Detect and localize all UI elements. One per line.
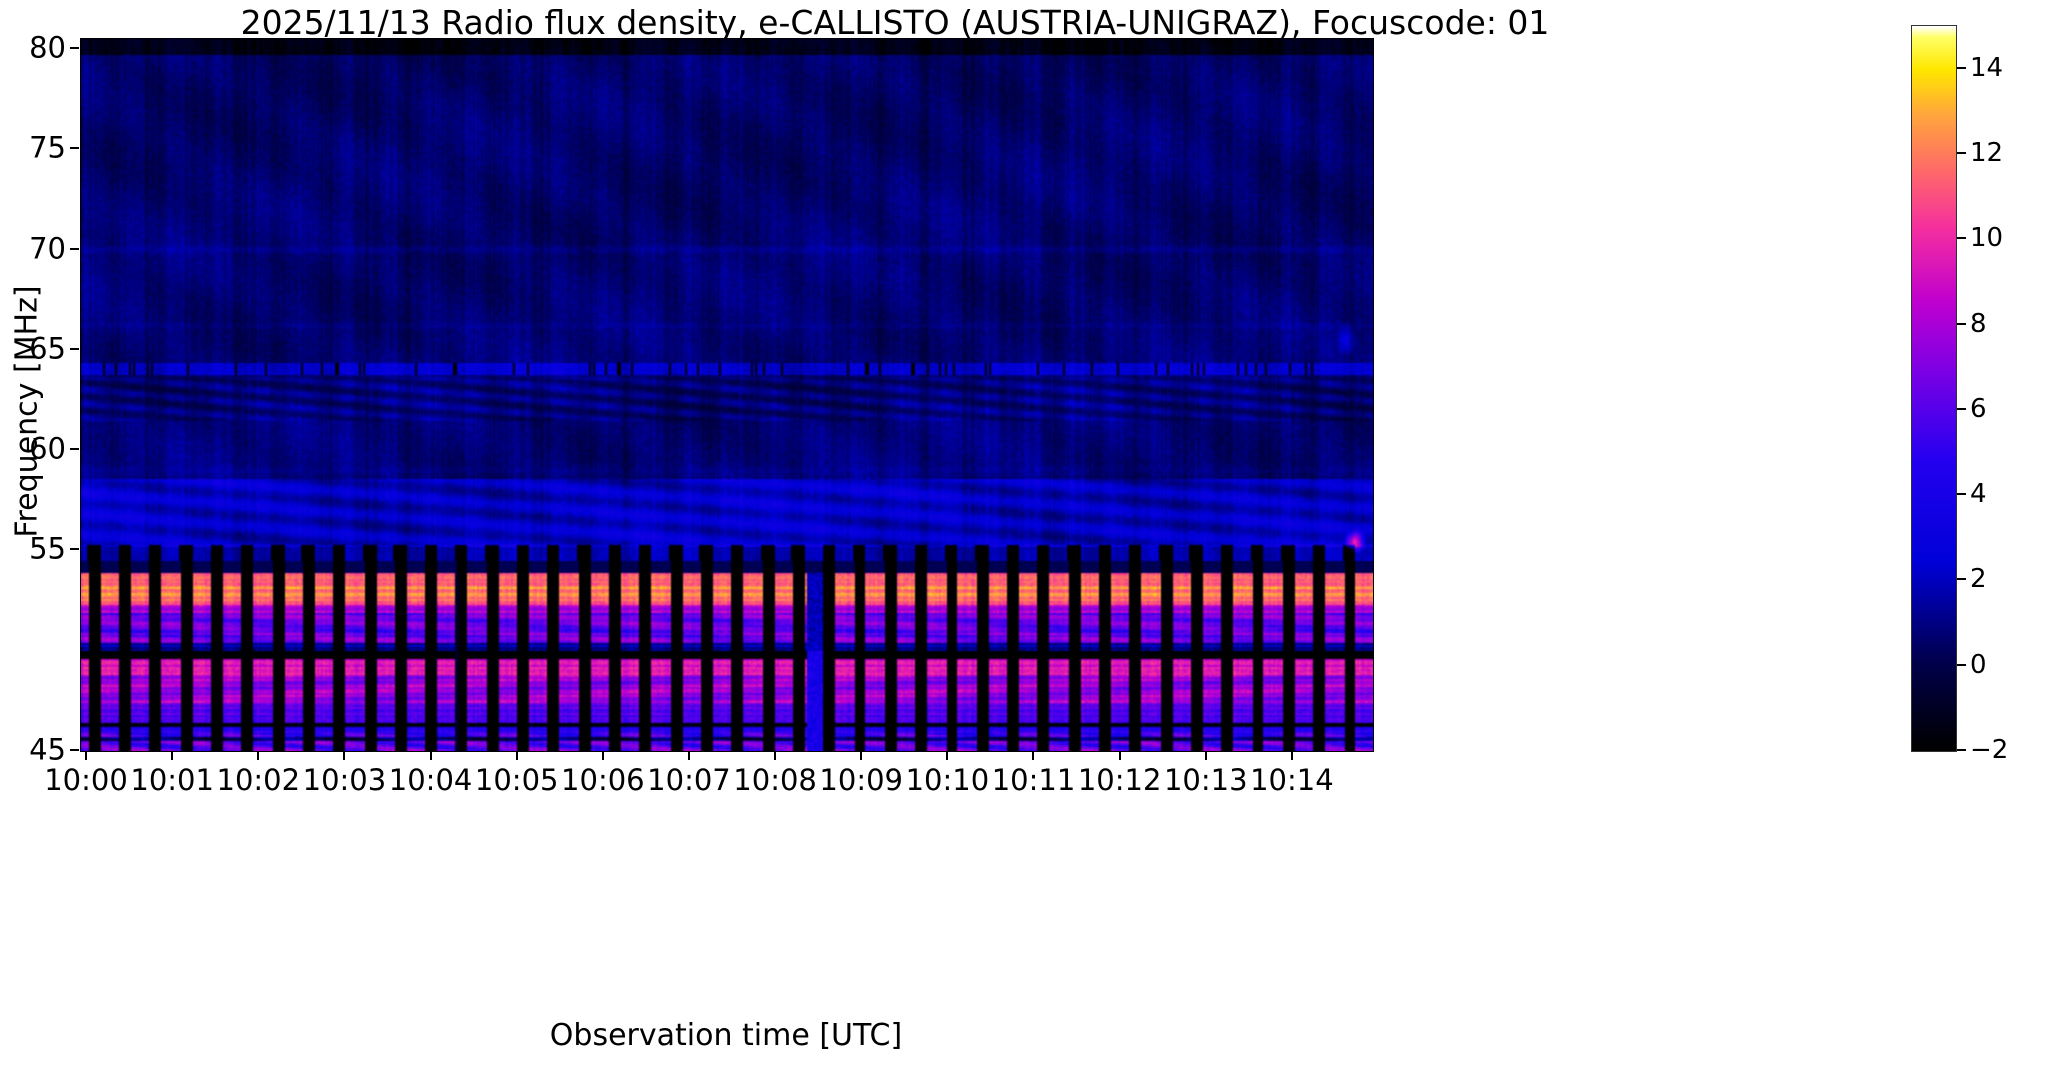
x-tick-label: 10:07 bbox=[647, 763, 731, 797]
colorbar-tick-label: 2 bbox=[1970, 564, 1987, 594]
x-tick-label: 10:12 bbox=[1078, 763, 1162, 797]
colorbar-tick-label: 10 bbox=[1970, 223, 2003, 253]
y-tick-mark bbox=[70, 248, 79, 250]
y-tick-mark bbox=[70, 147, 79, 149]
colorbar-tick-mark bbox=[1957, 237, 1966, 239]
colorbar-tick-label: 14 bbox=[1970, 53, 2003, 83]
colorbar bbox=[1911, 25, 1957, 752]
x-axis-title: Observation time [UTC] bbox=[80, 1018, 1372, 1053]
x-tick-label: 10:03 bbox=[303, 763, 387, 797]
y-tick-mark bbox=[70, 47, 79, 49]
x-tick-label: 10:08 bbox=[733, 763, 817, 797]
x-tick-mark bbox=[85, 751, 87, 760]
colorbar-tick-mark bbox=[1957, 323, 1966, 325]
spectrogram-image bbox=[81, 39, 1373, 751]
y-tick-mark bbox=[70, 448, 79, 450]
x-tick-mark bbox=[343, 751, 345, 760]
x-tick-label: 10:13 bbox=[1164, 763, 1248, 797]
colorbar-tick-mark bbox=[1957, 749, 1966, 751]
spectrogram-figure: 2025/11/13 Radio flux density, e-CALLIST… bbox=[0, 0, 2047, 1067]
colorbar-tick-mark bbox=[1957, 493, 1966, 495]
x-tick-label: 10:00 bbox=[44, 763, 128, 797]
x-tick-mark bbox=[1291, 751, 1293, 760]
x-tick-label: 10:10 bbox=[906, 763, 990, 797]
x-tick-label: 10:01 bbox=[130, 763, 214, 797]
x-tick-label: 10:02 bbox=[216, 763, 300, 797]
colorbar-tick-mark bbox=[1957, 578, 1966, 580]
colorbar-tick-label: 8 bbox=[1970, 309, 1987, 339]
x-tick-mark bbox=[1032, 751, 1034, 760]
colorbar-tick-mark bbox=[1957, 152, 1966, 154]
page-title: 2025/11/13 Radio flux density, e-CALLIST… bbox=[0, 3, 1790, 42]
colorbar-tick-label: 0 bbox=[1970, 650, 1987, 680]
y-tick-mark bbox=[70, 348, 79, 350]
colorbar-tick-label: 12 bbox=[1970, 138, 2003, 168]
colorbar-tick-mark bbox=[1957, 67, 1966, 69]
x-tick-mark bbox=[171, 751, 173, 760]
x-tick-mark bbox=[257, 751, 259, 760]
x-tick-mark bbox=[602, 751, 604, 760]
x-tick-mark bbox=[774, 751, 776, 760]
colorbar-tick-mark bbox=[1957, 664, 1966, 666]
x-tick-mark bbox=[1119, 751, 1121, 760]
colorbar-tick-mark bbox=[1957, 408, 1966, 410]
colorbar-tick-label: 6 bbox=[1970, 394, 1987, 424]
spectrogram-plot-area bbox=[80, 38, 1374, 752]
x-tick-mark bbox=[1205, 751, 1207, 760]
x-tick-mark bbox=[516, 751, 518, 760]
y-tick-mark bbox=[70, 548, 79, 550]
x-tick-label: 10:05 bbox=[475, 763, 559, 797]
colorbar-tick-label: 4 bbox=[1970, 479, 1987, 509]
y-axis-title: Frequency [MHz] bbox=[10, 56, 45, 768]
x-tick-label: 10:06 bbox=[561, 763, 645, 797]
x-tick-mark bbox=[946, 751, 948, 760]
x-tick-mark bbox=[688, 751, 690, 760]
x-tick-mark bbox=[860, 751, 862, 760]
x-tick-label: 10:09 bbox=[819, 763, 903, 797]
y-tick-mark bbox=[70, 749, 79, 751]
x-tick-label: 10:11 bbox=[992, 763, 1076, 797]
x-tick-label: 10:04 bbox=[389, 763, 473, 797]
colorbar-gradient bbox=[1912, 26, 1956, 751]
colorbar-tick-label: −2 bbox=[1970, 735, 2008, 765]
x-tick-mark bbox=[430, 751, 432, 760]
x-tick-label: 10:14 bbox=[1250, 763, 1334, 797]
